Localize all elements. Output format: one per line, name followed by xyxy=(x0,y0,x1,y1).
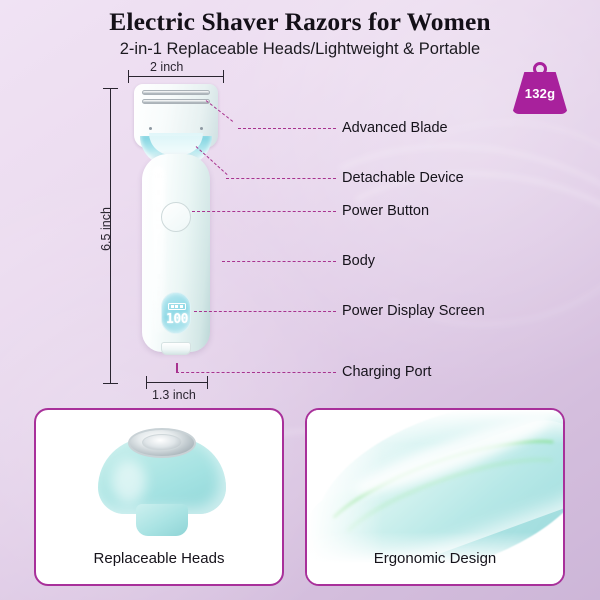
weight-value: 132g xyxy=(512,86,568,101)
feature-card-ergonomic-design[interactable]: Ergonomic Design xyxy=(305,408,565,586)
infographic-canvas: Electric Shaver Razors for Women 2-in-1 … xyxy=(0,0,600,600)
detachable-joint-inner xyxy=(149,133,203,155)
callout-label-detachable-device: Detachable Device xyxy=(342,170,464,186)
dimension-tick xyxy=(207,376,208,389)
device-charging-port xyxy=(161,342,191,355)
dimension-line-width-bottom xyxy=(146,382,208,383)
page-title: Electric Shaver Razors for Women xyxy=(0,7,600,37)
dimension-label-height-left: 6.5 inch xyxy=(99,207,113,251)
leader-line-advanced-blade xyxy=(238,128,336,129)
dimension-tick xyxy=(128,70,129,83)
blade-foil xyxy=(142,90,210,95)
replaceable-head-illustration xyxy=(98,428,226,538)
shaver-device-illustration: 100 xyxy=(128,84,224,356)
dimension-tick xyxy=(103,88,118,89)
callout-label-charging-port: Charging Port xyxy=(342,364,431,380)
weight-badge: 132g xyxy=(512,62,568,114)
head-neck xyxy=(136,504,188,536)
dimension-line-width-top xyxy=(128,76,224,77)
circular-blade-inner xyxy=(142,434,182,451)
callout-label-power-button: Power Button xyxy=(342,203,429,219)
display-value: 100 xyxy=(162,312,191,327)
dimension-label-width-top: 2 inch xyxy=(150,60,183,74)
dimension-label-width-bottom: 1.3 inch xyxy=(152,388,196,402)
callout-label-power-display-screen: Power Display Screen xyxy=(342,303,485,319)
head-release-dot xyxy=(149,127,152,130)
leader-line-charging-port xyxy=(176,372,336,373)
blade-foil xyxy=(142,99,210,104)
head-release-dot xyxy=(200,127,203,130)
card-caption-replaceable-heads: Replaceable Heads xyxy=(36,550,282,567)
dome-highlight xyxy=(112,460,146,504)
page-subtitle: 2-in-1 Replaceable Heads/Lightweight & P… xyxy=(0,40,600,59)
dimension-tick xyxy=(223,70,224,83)
callout-label-body: Body xyxy=(342,253,375,269)
leader-line-detachable-device xyxy=(226,178,336,179)
leader-line-power-button xyxy=(192,211,336,212)
dimension-tick xyxy=(146,376,147,389)
leader-line-body xyxy=(222,261,336,262)
dimension-tick xyxy=(103,383,118,384)
card-caption-ergonomic-design: Ergonomic Design xyxy=(307,550,563,567)
leader-line-power-display-screen xyxy=(194,311,336,312)
device-display-screen: 100 xyxy=(161,292,191,334)
device-power-button xyxy=(161,202,191,232)
illustration-fade xyxy=(307,410,563,444)
callout-label-advanced-blade: Advanced Blade xyxy=(342,120,448,136)
battery-icon xyxy=(168,303,186,310)
feature-card-replaceable-heads[interactable]: Replaceable Heads xyxy=(34,408,284,586)
